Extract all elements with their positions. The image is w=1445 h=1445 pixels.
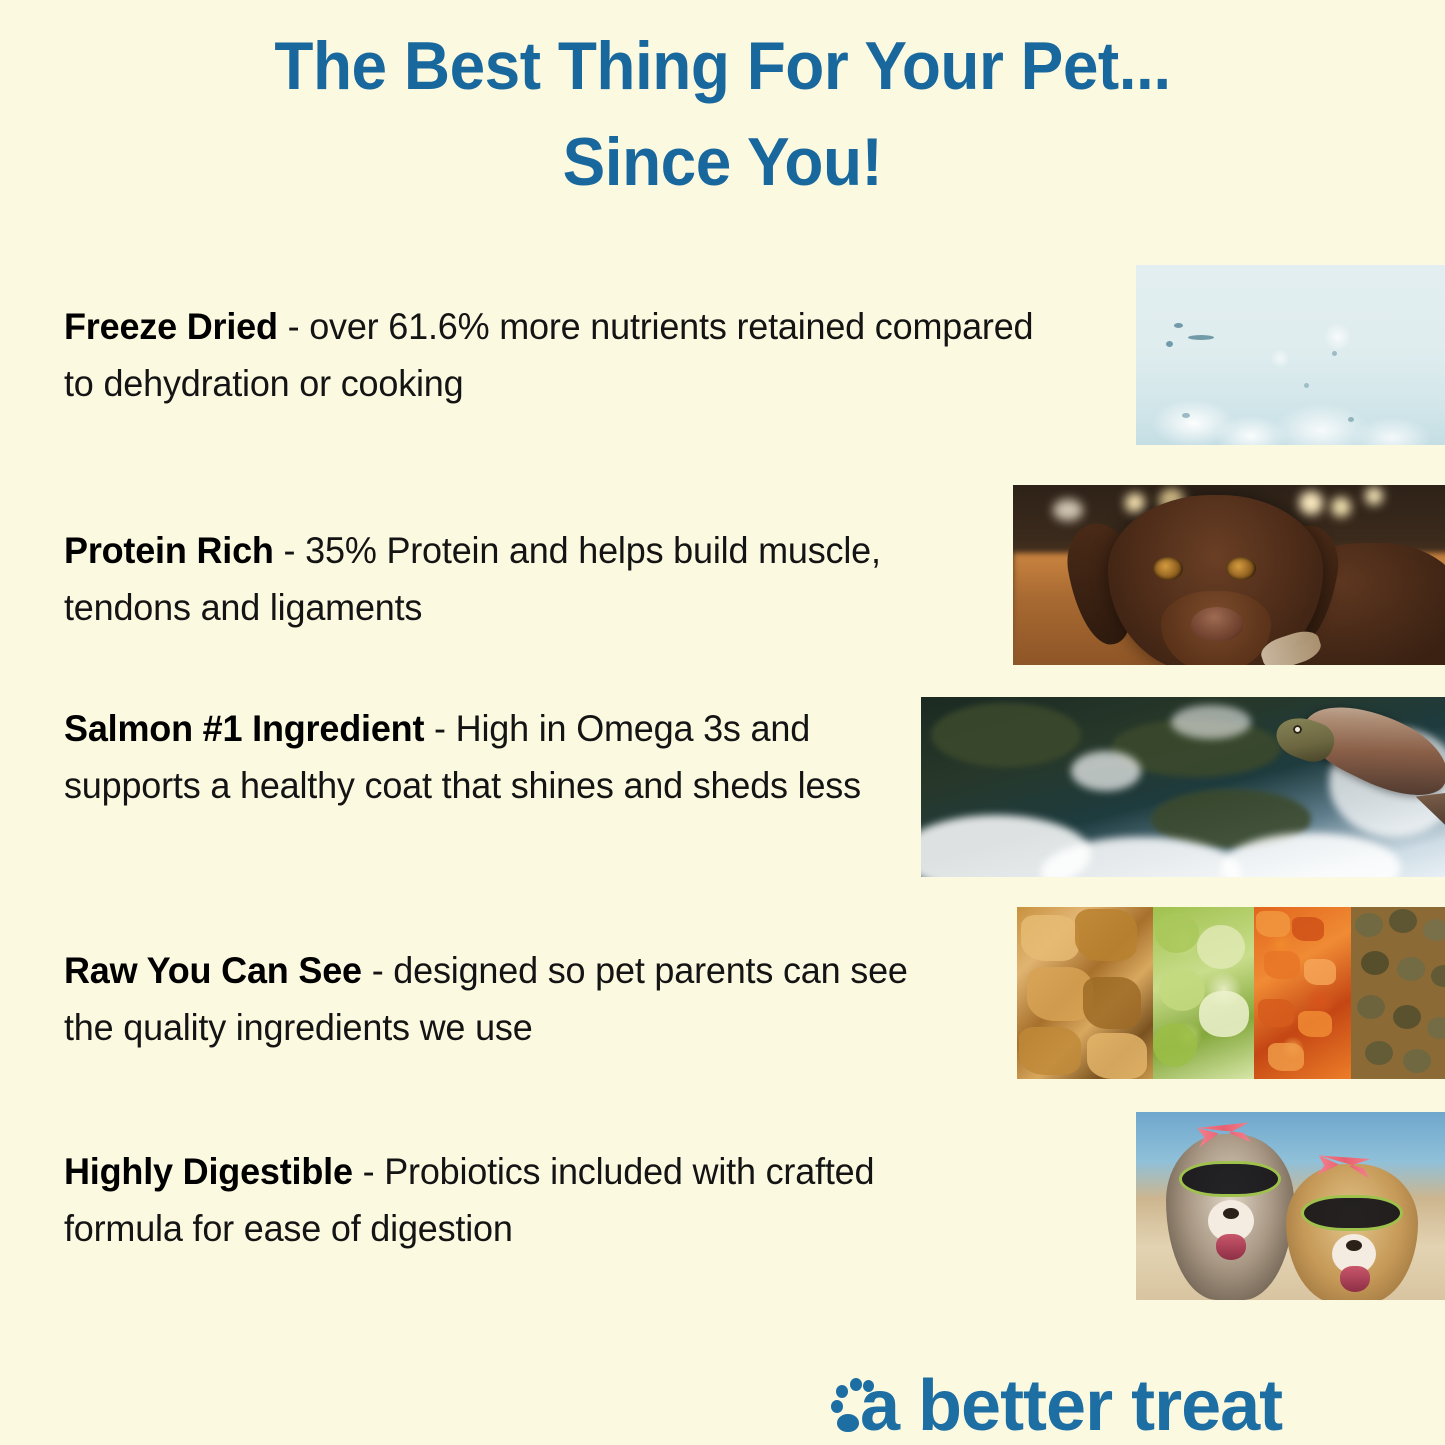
sunglasses-icon [1182,1164,1278,1194]
feature-label: Protein Rich [64,529,274,571]
two-dogs-beach-photo [1136,1112,1445,1300]
chocolate-lab-photo [1013,485,1445,665]
feature-separator: - [353,1150,384,1192]
paw-print-icon [830,1378,876,1434]
feature-item-freeze-dried: Freeze Dried - over 61.6% more nutrients… [64,298,1034,412]
feature-separator: - [278,305,309,347]
feature-label: Freeze Dried [64,305,278,347]
brand-logo-text: a better treat [860,1368,1282,1444]
feature-separator: - [362,949,393,991]
feature-item-highly-digestible: Highly Digestible - Probiotics included … [64,1143,928,1257]
feature-label: Highly Digestible [64,1150,353,1192]
feature-label: Raw You Can See [64,949,362,991]
leaping-salmon-photo [921,697,1445,877]
ingredient-band-kibble [1351,907,1445,1079]
feature-separator: - [274,529,305,571]
ingredient-band-carrot [1254,907,1351,1079]
ingredient-band-broccoli [1153,907,1254,1079]
ingredient-band-salmon [1017,907,1153,1079]
brand-logo: a better treat [830,1368,1430,1444]
product-infographic: The Best Thing For Your Pet... Since You… [0,0,1445,1445]
feature-separator: - [424,707,455,749]
sunglasses-icon [1304,1198,1400,1228]
feature-label: Salmon #1 Ingredient [64,707,424,749]
feature-item-salmon-first-ingredient: Salmon #1 Ingredient - High in Omega 3s … [64,700,909,814]
ice-crystals-photo [1136,265,1445,445]
freeze-dried-ingredients-photo [1017,907,1445,1079]
feature-item-raw-you-can-see: Raw You Can See - designed so pet parent… [64,942,928,1056]
feature-item-protein-rich: Protein Rich - 35% Protein and helps bui… [64,522,928,636]
